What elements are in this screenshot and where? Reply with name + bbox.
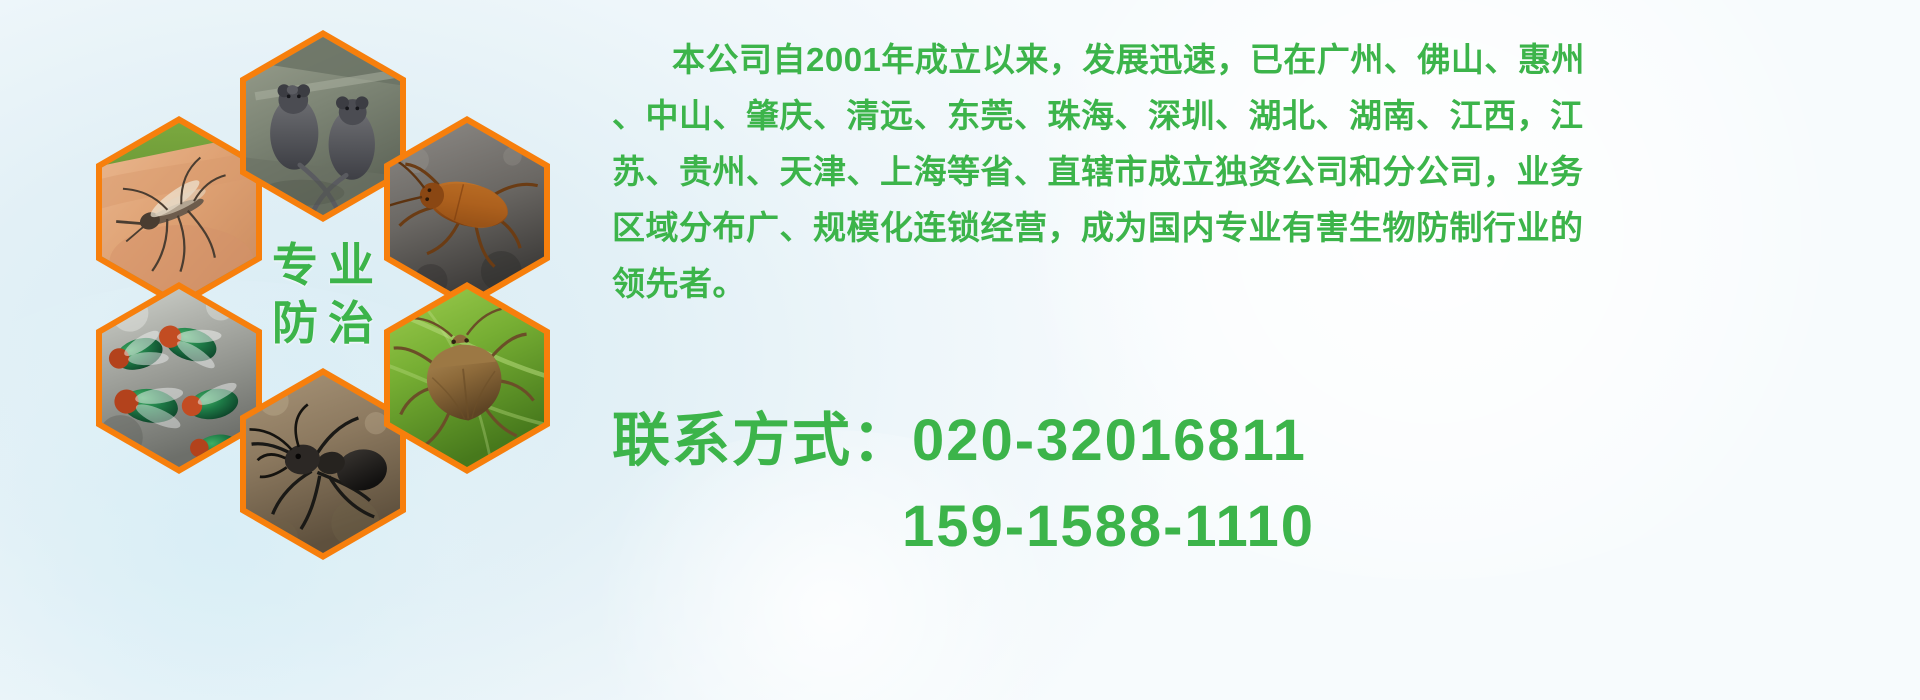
rats-photo: [246, 37, 400, 215]
hex-cell-cockroach[interactable]: [384, 116, 550, 308]
hex-cell-mosquito[interactable]: [96, 116, 262, 308]
hex-cell-stink-bug[interactable]: [384, 282, 550, 474]
hex-cell-badge: 专业 防治: [240, 199, 406, 391]
company-description: 本公司自2001年成立以来，发展迅速，已在广州、佛山、惠州 、中山、肇庆、清远、…: [612, 32, 1892, 312]
badge-line-1: 专业: [262, 241, 384, 291]
stink-bug-photo: [390, 289, 544, 467]
description-line-1: 本公司自2001年成立以来，发展迅速，已在广州、佛山、惠州: [612, 32, 1892, 88]
description-line-5: 领先者。: [612, 256, 1892, 312]
cockroach-photo: [390, 123, 544, 301]
contact-phone-mobile[interactable]: 159-1588-1110: [612, 484, 1912, 570]
hex-cell-ant[interactable]: [240, 368, 406, 560]
ant-photo: [246, 375, 400, 553]
mosquito-photo: [102, 123, 256, 301]
pest-control-banner: 专业 防治 本公司自2001年成立以来，发展迅速，已在广州、佛山、惠州 、中山、…: [0, 0, 1920, 700]
honeycomb-photo-cluster: 专业 防治: [96, 8, 596, 578]
contact-block: 联系方式：020-32016811 159-1588-1110: [612, 398, 1912, 570]
hex-cell-rats[interactable]: [240, 30, 406, 222]
contact-phone-primary[interactable]: 联系方式：020-32016811: [612, 398, 1912, 484]
badge-line-2: 防治: [262, 299, 384, 349]
description-line-4: 区域分布广、规模化连锁经营，成为国内专业有害生物防制行业的: [612, 200, 1892, 256]
hex-cell-flies[interactable]: [96, 282, 262, 474]
description-line-3: 苏、贵州、天津、上海等省、直辖市成立独资公司和分公司，业务: [612, 144, 1892, 200]
flies-photo: [102, 289, 256, 467]
description-line-2: 、中山、肇庆、清远、东莞、珠海、深圳、湖北、湖南、江西，江: [612, 88, 1892, 144]
badge-text: 专业 防治: [240, 199, 406, 391]
